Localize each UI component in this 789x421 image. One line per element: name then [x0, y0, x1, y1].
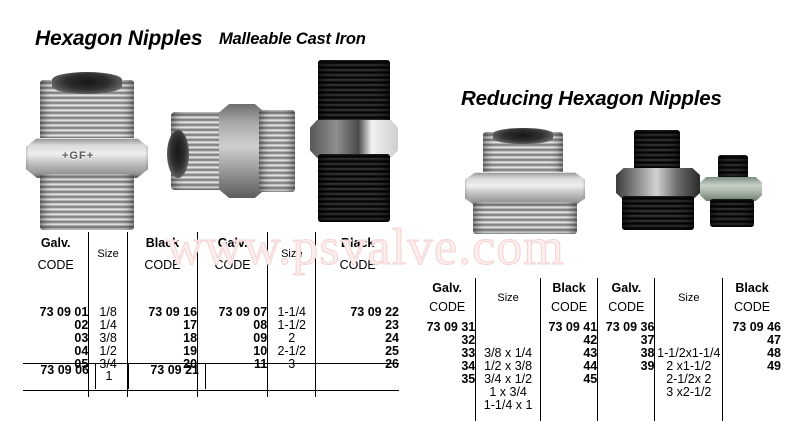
reducing-hexagon-nipples-table: Galv. Size Black Galv. Size Black CODE C…	[419, 278, 781, 421]
photo-galvanized-reducing-hexagon-nipple	[465, 126, 585, 230]
header-galv-1: Galv.	[23, 232, 89, 253]
table-header-row-1: Galv. Size Black Galv. Size Black	[23, 232, 399, 253]
photo-black-hexagon-nipple	[310, 60, 398, 225]
photo-black-reducing-hexagon-nipple	[612, 130, 700, 230]
catalog-page: Hexagon Nipples Malleable Cast Iron Redu…	[0, 0, 789, 421]
header-black-2: Black	[723, 278, 781, 297]
page-title-hexagon-nipples: Hexagon Nipples	[35, 27, 202, 51]
header-code-black-1: CODE	[540, 297, 597, 317]
cell-last-black: 73 09 21	[129, 364, 206, 389]
cell-black-codes-2-rest: 47 48 49	[723, 334, 781, 373]
reducing-body-row: 73 09 31 32 33 34 35 3/8 x 1/4 1/2 x 3/8…	[419, 317, 781, 421]
cell-galv-codes-1-rest: 32 33 34 35	[419, 334, 475, 386]
cell-galv-codes-2-rest: 37 38 39	[598, 334, 654, 373]
header-galv-1: Galv.	[419, 278, 476, 297]
photo-small-reducing-hexagon-nipple	[700, 155, 762, 227]
photo-galvanized-hexagon-nipple-large: +GF+	[26, 62, 148, 222]
header-size-2: Size	[655, 278, 723, 317]
cell-black-codes-1-rest: 42 43 44 45	[541, 334, 597, 386]
header-code-black-2: CODE	[723, 297, 781, 317]
header-galv-2: Galv.	[198, 232, 268, 253]
header-code-galv-2: CODE	[198, 253, 268, 276]
section-title-reducing-hexagon-nipples: Reducing Hexagon Nipples	[461, 87, 722, 111]
header-code-black-1: CODE	[127, 253, 197, 276]
cell-sizes-1: 3/8 x 1/4 1/2 x 3/8 3/4 x 1/2 1 x 3/4 1-…	[476, 347, 540, 412]
header-black-1: Black	[540, 278, 597, 297]
table-header-row-2: CODE CODE CODE CODE	[23, 253, 399, 276]
header-code-black-2: CODE	[316, 253, 399, 276]
reducing-header-row-2: CODE CODE CODE CODE	[419, 297, 781, 317]
photo-galvanized-hexagon-nipple-small	[163, 100, 296, 204]
header-size-2: Size	[268, 232, 316, 276]
code-first: 73 09 01	[40, 305, 89, 319]
header-code-galv-1: CODE	[23, 253, 89, 276]
cell-sizes-1: 1/8 1/4 3/8 1/2 3/4	[89, 306, 127, 371]
header-code-galv-1: CODE	[419, 297, 476, 317]
header-size-1: Size	[89, 232, 128, 276]
page-subtitle-material: Malleable Cast Iron	[219, 30, 366, 49]
header-galv-2: Galv.	[598, 278, 655, 297]
cell-sizes-2: 1-1/2x1-1/4 2 x1-1/2 2-1/2x 2 3 x2-1/2	[655, 347, 722, 399]
header-code-galv-2: CODE	[598, 297, 655, 317]
reducing-header-row-1: Galv. Size Black Galv. Size Black	[419, 278, 781, 297]
cell-sizes-2: 1-1/4 1-1/2 2 2-1/2 3	[268, 306, 315, 371]
header-black-2: Black	[316, 232, 399, 253]
header-size-1: Size	[476, 278, 541, 317]
brand-mark-gf: +GF+	[62, 150, 94, 162]
header-black-1: Black	[127, 232, 197, 253]
cell-last-size: 1	[90, 364, 129, 389]
